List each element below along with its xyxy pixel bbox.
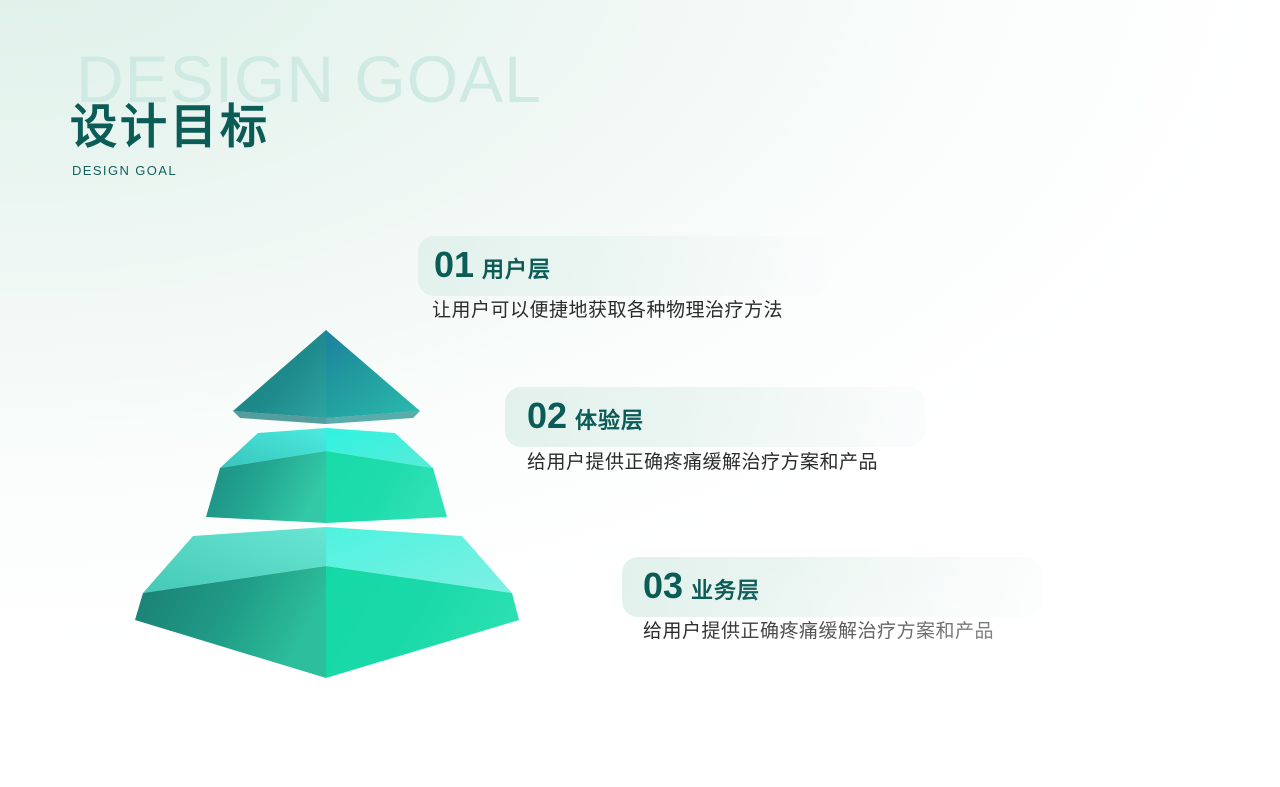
goal-card-1-description: 让用户可以便捷地获取各种物理治疗方法: [432, 301, 783, 320]
goal-card-3-tier: 业务层: [691, 580, 760, 602]
goal-card-1-number: 01: [434, 247, 474, 283]
goal-card-1-heading: 01 用户层: [434, 247, 551, 283]
pyramid-mid-face-left: [206, 451, 326, 523]
pyramid-apex-face-left: [233, 330, 326, 418]
pyramid-svg: [130, 320, 530, 690]
page-subtitle: DESIGN GOAL: [72, 164, 177, 177]
pyramid-mid-face-right: [326, 451, 447, 523]
pyramid-diagram: [130, 320, 530, 690]
goal-card-3-heading: 03 业务层: [643, 568, 760, 604]
pyramid-apex-face-right: [326, 330, 420, 418]
goal-card-2-description: 给用户提供正确疼痛缓解治疗方案和产品: [527, 453, 878, 472]
goal-card-1-tier: 用户层: [482, 259, 551, 281]
page-header: DESIGN GOAL 设计目标 DESIGN GOAL: [70, 46, 710, 196]
goal-card-2-heading: 02 体验层: [527, 398, 644, 434]
goal-card-2-number: 02: [527, 398, 567, 434]
goal-card-3-description: 给用户提供正确疼痛缓解治疗方案和产品: [643, 622, 994, 641]
slide-canvas: DESIGN GOAL 设计目标 DESIGN GOAL: [0, 0, 1280, 787]
page-title: 设计目标: [70, 103, 270, 150]
goal-card-2-tier: 体验层: [575, 410, 644, 432]
goal-card-3-number: 03: [643, 568, 683, 604]
